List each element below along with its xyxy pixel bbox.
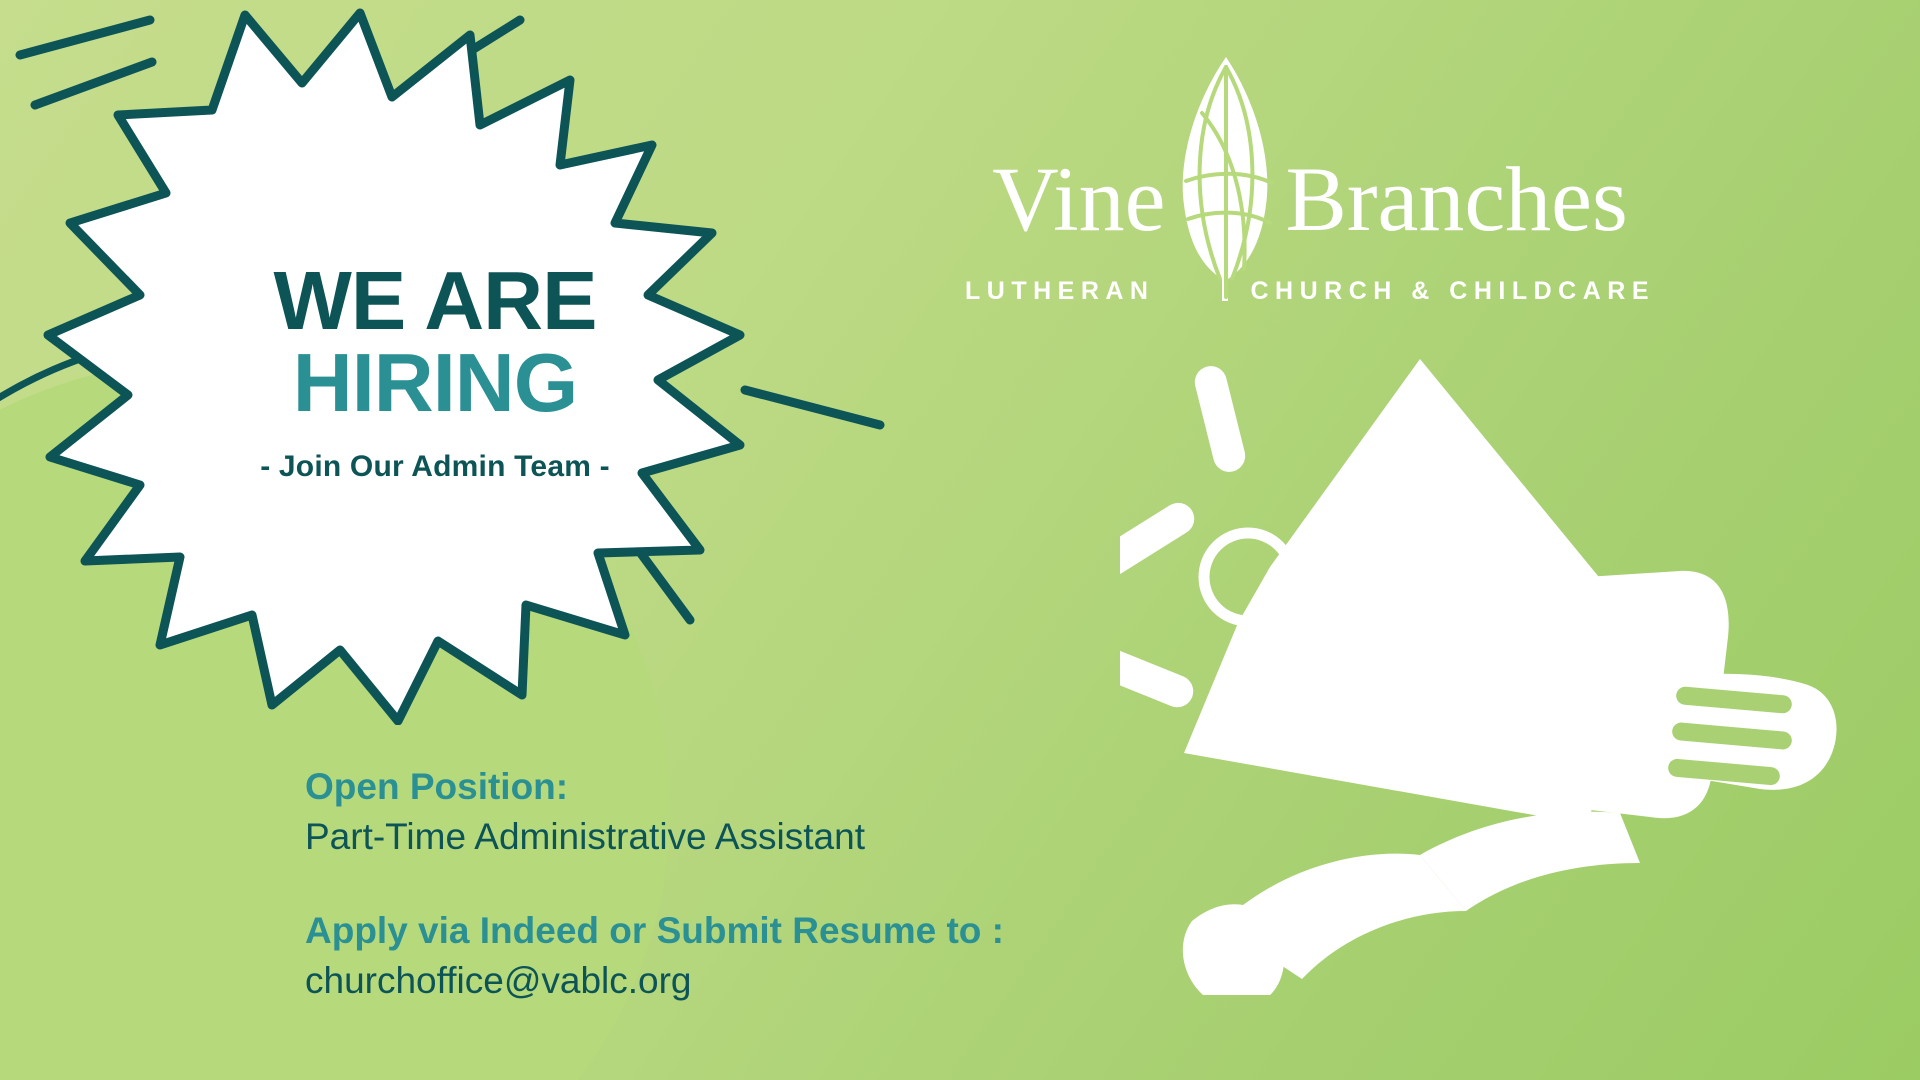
apply-email[interactable]: churchoffice@vablc.org <box>305 956 1205 1006</box>
brand-logo: Vine Branches LUTHERAN CHURCH & CHILDCAR… <box>965 95 1655 306</box>
logo-tagline: LUTHERAN CHURCH & CHILDCARE <box>965 277 1655 306</box>
headline-hiring: HIRING <box>293 341 578 424</box>
headline-we-are: WE ARE <box>274 260 597 341</box>
logo-wordmark: Vine Branches <box>965 95 1655 303</box>
starburst-callout: WE ARE HIRING - Join Our Admin Team - <box>40 5 830 725</box>
logo-tagline-right: CHURCH & CHILDCARE <box>1251 277 1656 306</box>
hiring-flyer: WE ARE HIRING - Join Our Admin Team - Vi… <box>0 0 1920 1080</box>
open-position-value: Part-Time Administrative Assistant <box>305 812 1205 862</box>
logo-tagline-left: LUTHERAN <box>965 277 1155 306</box>
megaphone-icon <box>1120 355 1860 995</box>
job-details: Open Position: Part-Time Administrative … <box>305 762 1205 1006</box>
leaf-globe-icon <box>1172 53 1280 303</box>
logo-word-branches: Branches <box>1286 153 1628 245</box>
logo-word-vine: Vine <box>992 153 1165 245</box>
apply-instructions-label: Apply via Indeed or Submit Resume to : <box>305 906 1205 956</box>
open-position-label: Open Position: <box>305 762 1205 812</box>
headline-subtitle: - Join Our Admin Team - <box>260 450 610 484</box>
